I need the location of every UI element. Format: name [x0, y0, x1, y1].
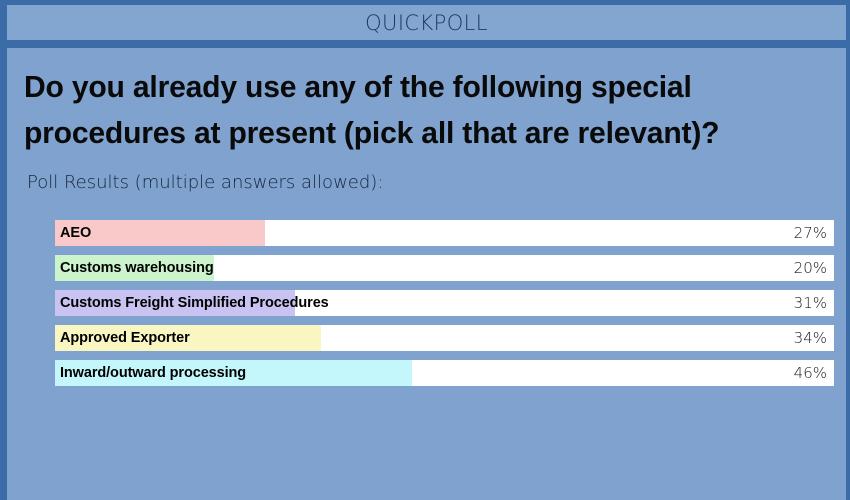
poll-result-row: Customs warehousing20%: [55, 255, 834, 281]
poll-results-subtitle: Poll Results (multiple answers allowed):: [27, 172, 383, 193]
slide-header-band: QUICKPOLL: [7, 0, 846, 48]
poll-result-label: Approved Exporter: [60, 325, 190, 351]
header-inner: QUICKPOLL: [7, 5, 846, 40]
poll-result-row: Approved Exporter34%: [55, 325, 834, 351]
poll-result-percentage: 20%: [794, 255, 827, 281]
poll-result-label: Customs Freight Simplified Procedures: [60, 290, 329, 316]
header-bottom-rule: [7, 40, 846, 48]
poll-result-label: Customs warehousing: [60, 255, 214, 281]
poll-result-label: Inward/outward processing: [60, 360, 246, 386]
poll-result-label: AEO: [60, 220, 91, 246]
poll-result-percentage: 31%: [794, 290, 827, 316]
quickpoll-slide: QUICKPOLL Do you already use any of the …: [0, 0, 850, 500]
poll-result-row: Customs Freight Simplified Procedures31%: [55, 290, 834, 316]
poll-question: Do you already use any of the following …: [24, 64, 812, 155]
poll-result-row: AEO27%: [55, 220, 834, 246]
poll-result-percentage: 46%: [794, 360, 827, 386]
poll-result-percentage: 27%: [794, 220, 827, 246]
poll-result-row: Inward/outward processing46%: [55, 360, 834, 386]
poll-result-percentage: 34%: [794, 325, 827, 351]
header-title: QUICKPOLL: [365, 11, 488, 35]
poll-results-list: AEO27%Customs warehousing20%Customs Frei…: [55, 220, 834, 395]
